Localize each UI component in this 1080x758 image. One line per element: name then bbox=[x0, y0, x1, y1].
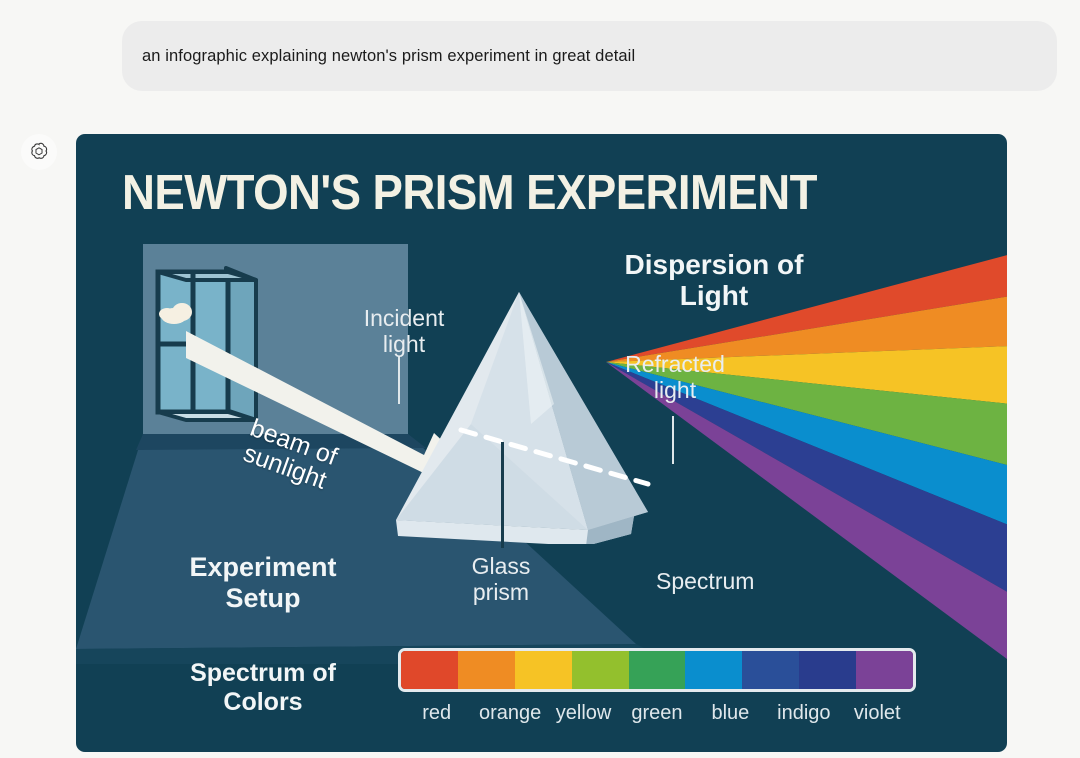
spectrum-fan bbox=[606, 254, 1007, 684]
swatch-red bbox=[401, 651, 458, 689]
color-name-indigo: indigo bbox=[767, 702, 840, 725]
infographic-canvas: beam of sunlight bbox=[76, 134, 1007, 752]
experiment-setup-heading: Experiment Setup bbox=[138, 552, 388, 614]
user-prompt-text: an infographic explaining newton's prism… bbox=[142, 47, 635, 66]
swatch-orange bbox=[458, 651, 515, 689]
glass-prism-leader bbox=[501, 442, 504, 548]
openai-logo-icon bbox=[21, 134, 57, 170]
swatch-yellow bbox=[515, 651, 572, 689]
color-name-orange: orange bbox=[473, 702, 546, 725]
swatch-violet bbox=[856, 651, 913, 689]
glass-prism-label: Glass prism bbox=[446, 554, 556, 606]
color-name-blue: blue bbox=[694, 702, 767, 725]
dispersion-of-light-heading: Dispersion of Light bbox=[604, 250, 824, 312]
spectrum-label: Spectrum bbox=[656, 568, 754, 595]
swatch-green bbox=[629, 651, 686, 689]
refracted-light-label: Refracted light bbox=[610, 352, 740, 404]
swatch-indigo bbox=[799, 651, 856, 689]
page-title: NEWTON'S PRISM EXPERIMENT bbox=[122, 165, 817, 221]
color-name-yellow: yellow bbox=[547, 702, 620, 725]
swatch-blue bbox=[685, 651, 742, 689]
incident-light-leader bbox=[398, 356, 400, 404]
spectrum-of-colors-heading: Spectrum of Colors bbox=[138, 659, 388, 716]
refracted-light-leader bbox=[672, 416, 674, 464]
color-name-violet: violet bbox=[841, 702, 914, 725]
color-name-green: green bbox=[620, 702, 693, 725]
swatch-yellow-green bbox=[572, 651, 629, 689]
spectrum-swatch-strip bbox=[398, 648, 916, 692]
incident-light-label: Incident light bbox=[344, 306, 464, 358]
swatch-indigo-light bbox=[742, 651, 799, 689]
screen: an infographic explaining newton's prism… bbox=[0, 0, 1080, 758]
user-prompt-bubble[interactable]: an infographic explaining newton's prism… bbox=[122, 21, 1057, 91]
fan-bands bbox=[606, 254, 1007, 662]
spectrum-color-names: redorangeyellowgreenblueindigoviolet bbox=[398, 702, 916, 725]
color-name-red: red bbox=[400, 702, 473, 725]
